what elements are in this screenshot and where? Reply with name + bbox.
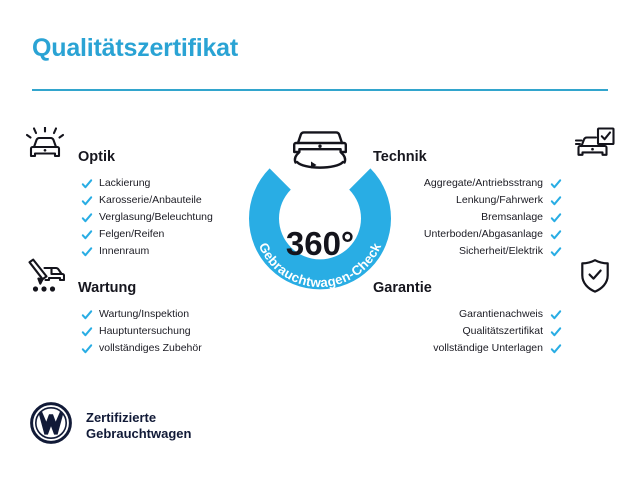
- footer-logo-text: Zertifizierte Gebrauchtwagen: [86, 410, 191, 442]
- list-item-label: vollständiges Zubehör: [99, 340, 202, 357]
- badge-center-label: 360°: [286, 225, 354, 262]
- check-list-optik: Lackierung Karosserie/Anbauteile Verglas…: [22, 175, 267, 260]
- shield-check-icon: [572, 255, 618, 297]
- check-icon: [80, 308, 93, 321]
- check-icon: [80, 194, 93, 207]
- page-title: Qualitätszertifikat: [32, 34, 238, 63]
- section-wartung: Wartung Wartung/Inspektion Hauptuntersuc…: [22, 255, 267, 355]
- list-item: Hauptuntersuchung: [22, 323, 267, 340]
- section-optik: Optik Lackierung Karosserie/Anbauteile: [22, 124, 267, 255]
- check-icon: [549, 325, 562, 338]
- list-item: Felgen/Reifen: [22, 226, 267, 243]
- list-item-label: Qualitätszertifikat: [462, 323, 543, 340]
- list-item-label: Lackierung: [99, 175, 150, 192]
- check-list-technik: Aggregate/Antriebsstrang Lenkung/Fahrwer…: [373, 175, 618, 260]
- footer-logo: Zertifizierte Gebrauchtwagen: [30, 402, 191, 449]
- list-item: Karosserie/Anbauteile: [22, 192, 267, 209]
- list-item: Qualitätszertifikat: [373, 323, 618, 340]
- right-column: Technik Aggregate/Antriebsstrang Lenkung…: [373, 124, 618, 355]
- check-list-wartung: Wartung/Inspektion Hauptuntersuchung vol…: [22, 306, 267, 357]
- list-item-label: Verglasung/Beleuchtung: [99, 209, 213, 226]
- car-shine-icon: [22, 124, 68, 166]
- list-item: Lenkung/Fahrwerk: [373, 192, 618, 209]
- list-item: vollständige Unterlagen: [373, 340, 618, 357]
- list-item-label: Aggregate/Antriebsstrang: [424, 175, 543, 192]
- check-icon: [80, 177, 93, 190]
- car-rotate-icon: [294, 132, 346, 168]
- list-item: Aggregate/Antriebsstrang: [373, 175, 618, 192]
- list-item: Wartung/Inspektion: [22, 306, 267, 323]
- section-garantie: Garantie Garantienachweis Qualitätszerti…: [373, 255, 618, 355]
- list-item-label: Lenkung/Fahrwerk: [456, 192, 543, 209]
- footer-line-2: Gebrauchtwagen: [86, 426, 191, 442]
- check-icon: [549, 211, 562, 224]
- check-icon: [549, 194, 562, 207]
- check-icon: [80, 342, 93, 355]
- section-title-optik: Optik: [78, 149, 115, 165]
- list-item: Garantienachweis: [373, 306, 618, 323]
- list-item-label: Karosserie/Anbauteile: [99, 192, 202, 209]
- section-header-optik: Optik: [22, 124, 267, 166]
- check-icon: [549, 308, 562, 321]
- vw-logo-icon: [30, 402, 72, 449]
- section-title-wartung: Wartung: [78, 280, 136, 296]
- list-item-label: vollständige Unterlagen: [433, 340, 543, 357]
- badge-360-gebrauchtwagen-check: 360° Gebrauchtwagen-Check: [233, 120, 407, 306]
- list-item: Verglasung/Beleuchtung: [22, 209, 267, 226]
- car-service-pen-icon: [22, 255, 68, 297]
- check-list-garantie: Garantienachweis Qualitätszertifikat vol…: [373, 306, 618, 357]
- footer-line-1: Zertifizierte: [86, 410, 191, 426]
- check-icon: [549, 228, 562, 241]
- list-item-label: Wartung/Inspektion: [99, 306, 189, 323]
- check-icon: [549, 177, 562, 190]
- list-item: vollständiges Zubehör: [22, 340, 267, 357]
- list-item: Lackierung: [22, 175, 267, 192]
- check-icon: [80, 228, 93, 241]
- car-checkbox-icon: [572, 124, 618, 166]
- list-item-label: Hauptuntersuchung: [99, 323, 191, 340]
- section-technik: Technik Aggregate/Antriebsstrang Lenkung…: [373, 124, 618, 255]
- list-item-label: Felgen/Reifen: [99, 226, 164, 243]
- check-icon: [80, 211, 93, 224]
- section-header-wartung: Wartung: [22, 255, 267, 297]
- check-icon: [80, 325, 93, 338]
- list-item: Bremsanlage: [373, 209, 618, 226]
- check-icon: [549, 342, 562, 355]
- left-column: Optik Lackierung Karosserie/Anbauteile: [22, 124, 267, 355]
- title-divider: [32, 89, 608, 91]
- section-header-garantie: Garantie: [373, 255, 618, 297]
- list-item-label: Unterboden/Abgasanlage: [424, 226, 543, 243]
- list-item: Unterboden/Abgasanlage: [373, 226, 618, 243]
- list-item-label: Bremsanlage: [481, 209, 543, 226]
- list-item-label: Garantienachweis: [459, 306, 543, 323]
- section-header-technik: Technik: [373, 124, 618, 166]
